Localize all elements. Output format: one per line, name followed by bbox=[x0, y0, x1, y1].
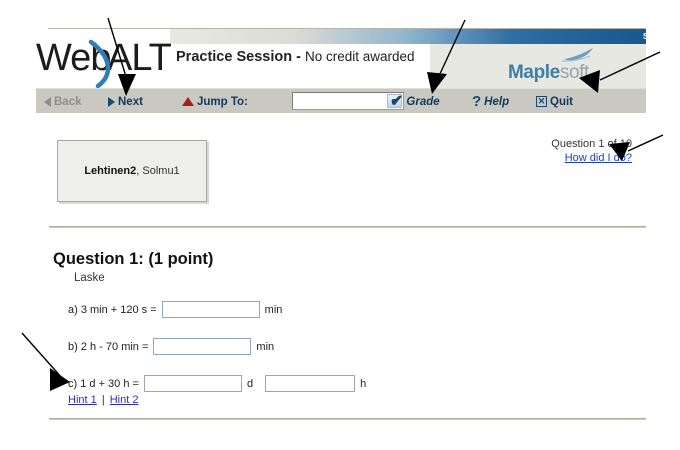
jump-to-select[interactable] bbox=[292, 92, 404, 110]
student-name: Lehtinen2, Solmu1 bbox=[84, 165, 179, 177]
svg-text:Web: Web bbox=[36, 37, 110, 79]
student-name-bold: Lehtinen2 bbox=[84, 165, 136, 177]
question-part-c: c) 1 d + 30 h = d h bbox=[68, 375, 378, 392]
jump-to-label: Jump To: bbox=[197, 96, 248, 108]
triangle-right-icon bbox=[108, 97, 115, 107]
part-c-unit-hours: h bbox=[360, 378, 366, 390]
grade-button[interactable]: ✔ Grade bbox=[390, 89, 440, 114]
student-name-box: Lehtinen2, Solmu1 bbox=[57, 140, 207, 202]
help-button[interactable]: ? Help bbox=[472, 89, 509, 114]
hint-2-link[interactable]: Hint 2 bbox=[110, 394, 139, 406]
question-part-b: b) 2 h - 70 min = min bbox=[68, 338, 286, 355]
part-b-unit: min bbox=[256, 341, 274, 353]
page-root: STUDENT > ASSIGNMENT Web ALT Practice Se… bbox=[0, 0, 680, 450]
part-c-answer-input-days[interactable] bbox=[144, 375, 242, 392]
help-button-label: Help bbox=[484, 96, 509, 108]
part-c-label: c) 1 d + 30 h = bbox=[68, 378, 139, 390]
next-button-label: Next bbox=[118, 96, 143, 108]
breadcrumb: STUDENT > ASSIGNMENT bbox=[625, 30, 680, 43]
maplesoft-word-maple: Maple bbox=[508, 62, 560, 83]
webalt-logo[interactable]: Web ALT bbox=[36, 34, 176, 88]
annotation-arrow-part-c bbox=[22, 333, 70, 391]
back-button-label: Back bbox=[54, 96, 82, 108]
svg-text:ALT: ALT bbox=[107, 37, 172, 79]
breadcrumb-gradient-bar: STUDENT > ASSIGNMENT bbox=[170, 29, 646, 44]
session-title: Practice Session - No credit awarded bbox=[176, 48, 476, 66]
session-title-dash: - bbox=[296, 49, 301, 65]
toolbar: Back Next Jump To: ✔ Grade ? Help ✕ Quit bbox=[36, 88, 646, 113]
back-button[interactable]: Back bbox=[44, 89, 82, 114]
triangle-left-icon bbox=[44, 97, 51, 107]
student-name-rest: , Solmu1 bbox=[136, 165, 179, 177]
section-divider-top bbox=[49, 226, 646, 228]
quit-button-label: Quit bbox=[550, 96, 573, 108]
part-b-label: b) 2 h - 70 min = bbox=[68, 341, 148, 353]
question-counter: Question 1 of 10 bbox=[470, 138, 632, 150]
question-part-a: a) 3 min + 120 s = min bbox=[68, 301, 294, 318]
part-a-label: a) 3 min + 120 s = bbox=[68, 304, 157, 316]
question-title: Question 1: (1 point) bbox=[53, 250, 213, 269]
section-divider-bottom bbox=[49, 418, 646, 420]
part-c-answer-input-hours[interactable] bbox=[265, 375, 355, 392]
session-title-main: Practice Session bbox=[176, 49, 292, 65]
session-title-sub: No credit awarded bbox=[305, 49, 415, 64]
next-button[interactable]: Next bbox=[108, 89, 143, 114]
question-instruction: Laske bbox=[74, 272, 105, 284]
check-icon: ✔ bbox=[390, 94, 403, 110]
how-did-i-do-link[interactable]: How did I do? bbox=[565, 152, 632, 164]
maplesoft-wordmark: Maplesoft bbox=[508, 62, 589, 84]
quit-button[interactable]: ✕ Quit bbox=[536, 89, 573, 114]
part-a-unit: min bbox=[265, 304, 283, 316]
hint-1-link[interactable]: Hint 1 bbox=[68, 394, 97, 406]
page-header: STUDENT > ASSIGNMENT Web ALT Practice Se… bbox=[36, 29, 646, 88]
jump-to-label-group: Jump To: bbox=[182, 89, 248, 114]
hint-separator: | bbox=[100, 394, 107, 406]
triangle-up-icon bbox=[182, 97, 194, 106]
question-mark-icon: ? bbox=[472, 94, 481, 109]
part-a-answer-input[interactable] bbox=[162, 301, 260, 318]
close-box-icon: ✕ bbox=[536, 96, 547, 107]
grade-button-label: Grade bbox=[406, 96, 439, 108]
how-did-i-do-link-wrap: How did I do? bbox=[470, 152, 632, 164]
maplesoft-word-soft: soft bbox=[560, 62, 589, 83]
hint-links: Hint 1 | Hint 2 bbox=[68, 394, 138, 406]
maplesoft-logo[interactable]: Maplesoft bbox=[508, 47, 638, 87]
part-c-unit-days: d bbox=[247, 378, 253, 390]
part-b-answer-input[interactable] bbox=[153, 338, 251, 355]
